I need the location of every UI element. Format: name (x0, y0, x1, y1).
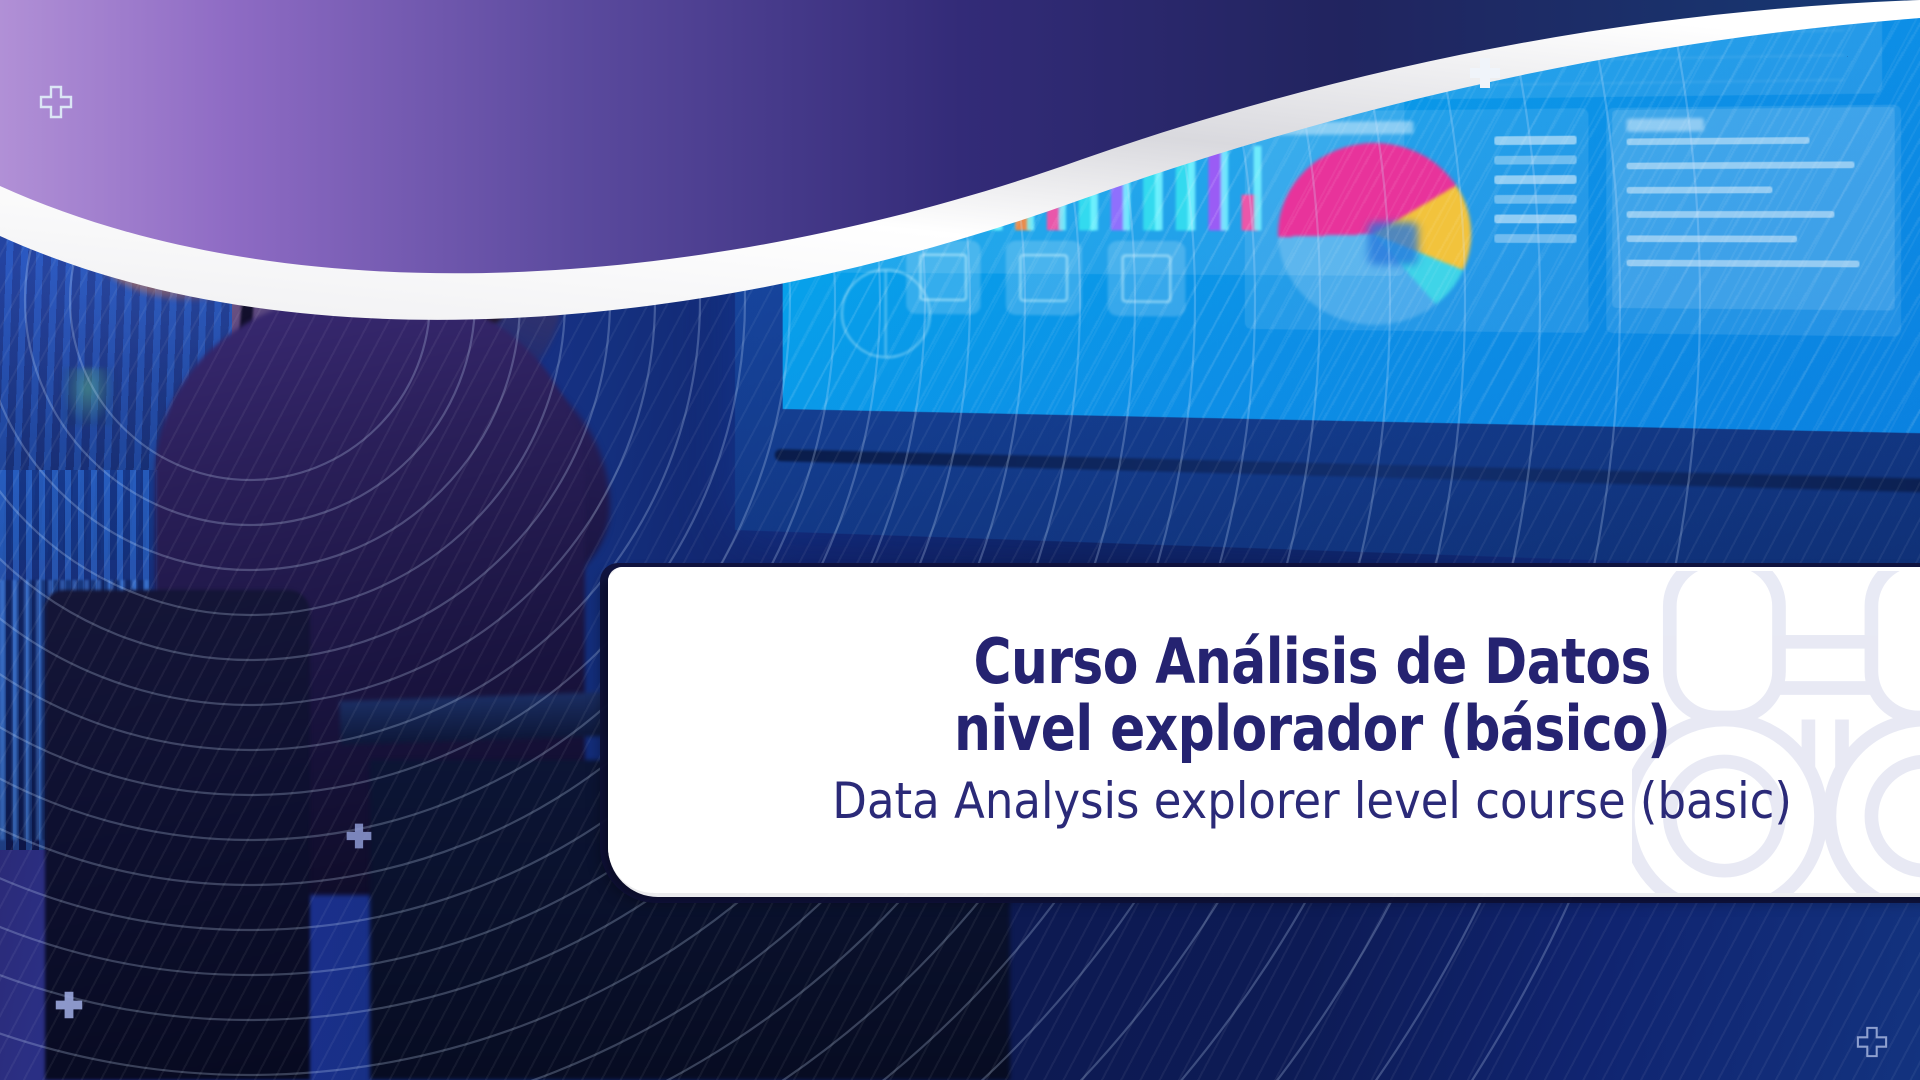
dashboard-bar (921, 118, 936, 231)
dashboard-tile-2 (1006, 241, 1082, 316)
dashboard-bar (1110, 171, 1126, 231)
title-card: Curso Análisis de Datos nivel explorador… (612, 571, 1920, 893)
dashboard-label-pie-title (1278, 121, 1413, 135)
dashboard-bar (983, 42, 999, 230)
page-title-line-1: Curso Análisis de Datos (954, 629, 1670, 696)
dashboard-bar (1015, 152, 1031, 231)
dashboard-label-overview (839, 0, 933, 12)
dashboard-label-metrics (884, 206, 958, 218)
dashboard-bar-ghost (1221, 78, 1228, 230)
page-title-line-2: nivel explorador (básico) (954, 696, 1670, 763)
dashboard-screen (783, 0, 1920, 437)
dashboard-tile-3 (1108, 241, 1186, 317)
pie-center-callout (1368, 222, 1418, 265)
dashboard-bar (890, 141, 905, 230)
projection-screen-frame (735, 0, 1920, 578)
dashboard-bar (1143, 83, 1159, 230)
dashboard-bar-ghost (1059, 61, 1066, 231)
dashboard-panel-right (1425, 0, 1882, 99)
dashboard-bar-ghost (902, 95, 909, 231)
dashboard-pie-legend (1494, 136, 1576, 254)
potted-plant (62, 368, 114, 426)
dashboard-bar-ghost (1155, 35, 1162, 230)
dashboard-globe-icon (841, 269, 931, 359)
background-photo (0, 0, 1920, 1080)
dashboard-bar-ghost (1188, 31, 1195, 231)
dashboard-bar-ghost (1090, 33, 1097, 231)
dashboard-bar-ghost (933, 71, 940, 230)
dashboard-pie-chart (1278, 142, 1471, 326)
dashboard-bar-chart (884, 29, 1267, 230)
dashboard-bar-ghost (1254, 146, 1261, 231)
dashboard-data-table (1612, 107, 1894, 311)
dashboard-bar (1046, 108, 1062, 230)
title-card-content: Curso Análisis de Datos nivel explorador… (612, 571, 1920, 893)
dashboard-line-chart (1448, 0, 1844, 86)
dashboard-bar (1175, 31, 1191, 231)
office-chair (45, 590, 310, 1080)
dashboard-panel-left (805, 0, 1405, 276)
dashboard-label-table-title (1627, 118, 1704, 132)
dashboard-tile-1 (906, 240, 981, 314)
dashboard-panel-pie (1245, 108, 1589, 333)
dashboard-bar (1078, 56, 1094, 230)
banner-stage: Curso Análisis de Datos nivel explorador… (0, 0, 1920, 1080)
dashboard-panel-table (1606, 105, 1901, 337)
page-title: Curso Análisis de Datos nivel explorador… (954, 629, 1670, 763)
page-subtitle: Data Analysis explorer level course (bas… (832, 775, 1792, 828)
dashboard-bar-ghost (1027, 105, 1034, 231)
dashboard-bar (1241, 194, 1258, 230)
dashboard-bar (952, 187, 968, 230)
dashboard-bar-ghost (964, 141, 971, 231)
dashboard-bar-ghost (1123, 123, 1130, 230)
projection-screen-base (775, 449, 1920, 497)
dashboard-bar-ghost (995, 35, 1002, 231)
dashboard-bar (1208, 126, 1224, 230)
